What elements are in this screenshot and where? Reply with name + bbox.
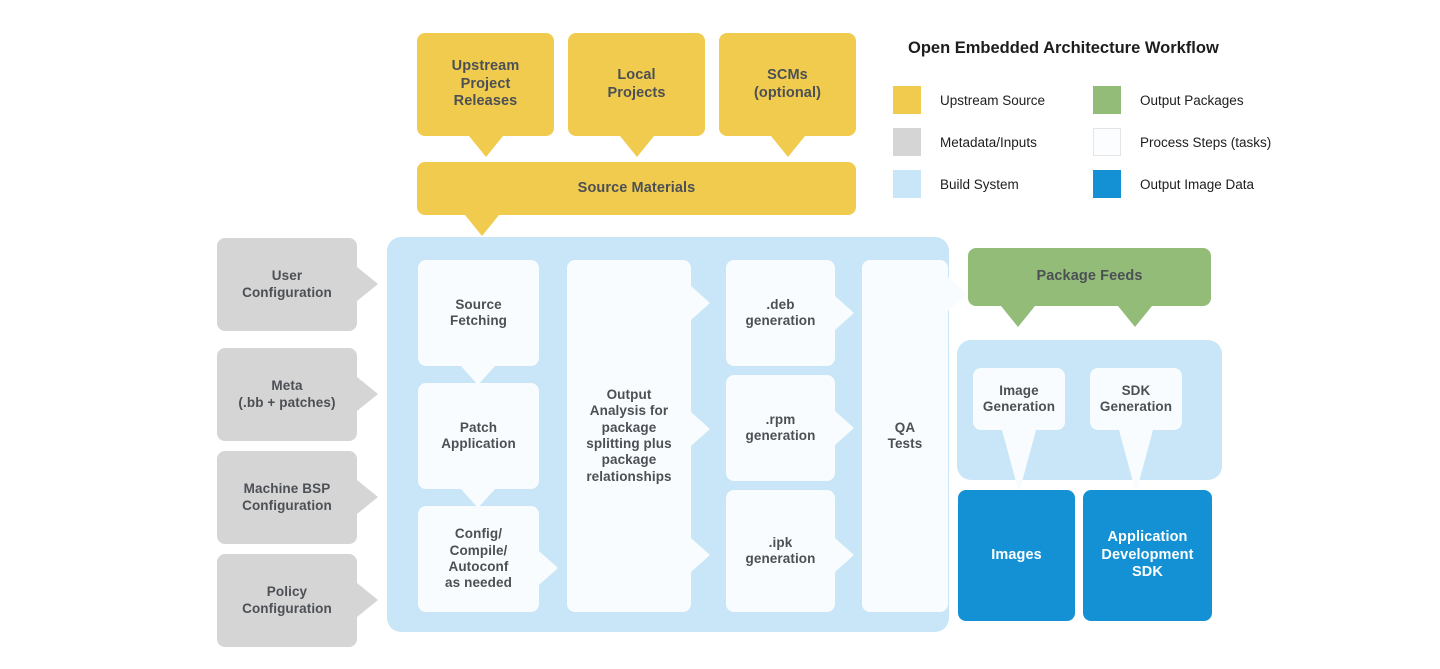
metadata-input-meta: Meta (.bb + patches) — [217, 348, 357, 441]
arrow-output-analysis-to-rpm-generation — [691, 412, 710, 446]
legend-item-build-system: Build System — [893, 170, 1019, 198]
metadata-input-user-configuration: User Configuration — [217, 238, 357, 331]
legend-item-output-image-data: Output Image Data — [1093, 170, 1254, 198]
legend-label-metadata-inputs: Metadata/Inputs — [940, 135, 1037, 150]
source-materials-box: Source Materials — [417, 162, 856, 215]
legend-label-build-system: Build System — [940, 177, 1019, 192]
arrow-sdk-generation-to-application-development-sdk — [1119, 430, 1153, 493]
legend-swatch-process-steps — [1093, 128, 1121, 156]
output-application-development-sdk: Application Development SDK — [1083, 490, 1212, 621]
arrow-local-projects-to-source-materials — [620, 136, 654, 157]
arrow-deb-generation-to-qa-tests — [835, 296, 854, 330]
arrow-scms-to-source-materials — [771, 136, 805, 157]
architecture-workflow-diagram: Open Embedded Architecture Workflow Upst… — [0, 0, 1440, 669]
process-step-image-generation: Image Generation — [973, 368, 1065, 430]
legend-item-metadata-inputs: Metadata/Inputs — [893, 128, 1037, 156]
arrow-package-feeds-to-image-generation — [1001, 306, 1035, 327]
legend-title: Open Embedded Architecture Workflow — [908, 39, 1219, 58]
process-step-ipk-generation: .ipk generation — [726, 490, 835, 612]
legend-label-process-steps: Process Steps (tasks) — [1140, 135, 1271, 150]
upstream-source-scms: SCMs (optional) — [719, 33, 856, 136]
arrow-rpm-generation-to-qa-tests — [835, 411, 854, 445]
arrow-policy-configuration-to-build-system — [357, 583, 378, 617]
legend-label-output-image-data: Output Image Data — [1140, 177, 1254, 192]
legend-swatch-output-packages — [1093, 86, 1121, 114]
legend-item-output-packages: Output Packages — [1093, 86, 1244, 114]
legend-label-output-packages: Output Packages — [1140, 93, 1244, 108]
upstream-source-upstream-project-releases: Upstream Project Releases — [417, 33, 554, 136]
process-step-deb-generation: .deb generation — [726, 260, 835, 366]
legend-swatch-metadata-inputs — [893, 128, 921, 156]
arrow-output-analysis-to-deb-generation — [691, 286, 710, 320]
package-feeds-box: Package Feeds — [968, 248, 1211, 306]
process-step-output-analysis: Output Analysis for package splitting pl… — [567, 260, 691, 612]
legend-label-upstream-source: Upstream Source — [940, 93, 1045, 108]
legend-item-upstream-source: Upstream Source — [893, 86, 1045, 114]
process-step-qa-tests: QA Tests — [862, 260, 948, 612]
arrow-package-feeds-to-sdk-generation — [1118, 306, 1152, 327]
upstream-source-local-projects: Local Projects — [568, 33, 705, 136]
process-step-patch-application: Patch Application — [418, 383, 539, 489]
legend-swatch-output-image-data — [1093, 170, 1121, 198]
process-step-config-compile-autoconf: Config/ Compile/ Autoconf as needed — [418, 506, 539, 612]
arrow-qa-tests-to-package-feeds — [948, 277, 967, 311]
metadata-input-machine-bsp-configuration: Machine BSP Configuration — [217, 451, 357, 544]
output-images: Images — [958, 490, 1075, 621]
legend-swatch-upstream-source — [893, 86, 921, 114]
arrow-ipk-generation-to-qa-tests — [835, 538, 854, 572]
arrow-upstream-releases-to-source-materials — [469, 136, 503, 157]
process-step-rpm-generation: .rpm generation — [726, 375, 835, 481]
arrow-user-configuration-to-build-system — [357, 267, 378, 301]
process-step-sdk-generation: SDK Generation — [1090, 368, 1182, 430]
process-step-source-fetching: Source Fetching — [418, 260, 539, 366]
arrow-output-analysis-to-ipk-generation — [691, 538, 710, 572]
arrow-image-generation-to-images — [1002, 430, 1036, 493]
metadata-input-policy-configuration: Policy Configuration — [217, 554, 357, 647]
arrow-meta-to-build-system — [357, 377, 378, 411]
legend-item-process-steps: Process Steps (tasks) — [1093, 128, 1271, 156]
arrow-config-compile-to-output-analysis — [539, 551, 558, 585]
legend-swatch-build-system — [893, 170, 921, 198]
arrow-source-materials-to-build-system — [465, 215, 499, 236]
arrow-machine-bsp-to-build-system — [357, 480, 378, 514]
